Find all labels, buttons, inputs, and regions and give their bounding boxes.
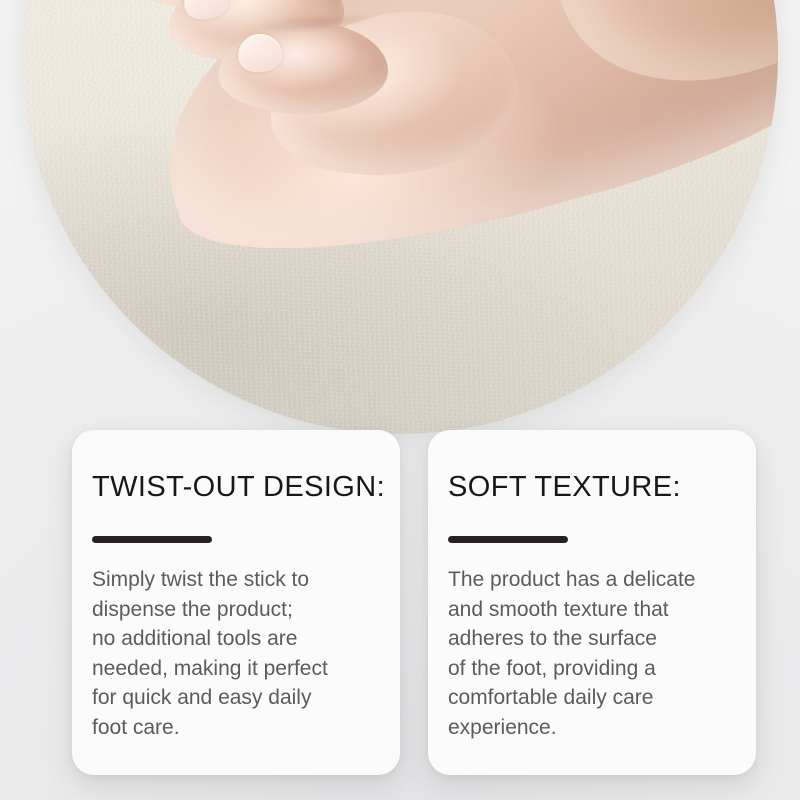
hero-photo-circle	[22, 0, 778, 434]
feature-card-body: The product has a delicate and smooth te…	[448, 565, 732, 743]
foot-illustration	[22, 0, 778, 434]
feature-card-divider	[448, 536, 568, 543]
feature-card-title: TWIST-OUT DESIGN:	[92, 472, 376, 504]
feature-card-twist-out-design: TWIST-OUT DESIGN: Simply twist the stick…	[72, 430, 400, 775]
feature-card-divider	[92, 536, 212, 543]
feature-card-soft-texture: SOFT TEXTURE: The product has a delicate…	[428, 430, 756, 775]
foot-photo	[22, 0, 778, 434]
feature-card-title: SOFT TEXTURE:	[448, 472, 732, 504]
feature-card-body: Simply twist the stick to dispense the p…	[92, 565, 376, 743]
feature-cards: TWIST-OUT DESIGN: Simply twist the stick…	[72, 430, 756, 775]
page-root: TWIST-OUT DESIGN: Simply twist the stick…	[0, 0, 800, 800]
